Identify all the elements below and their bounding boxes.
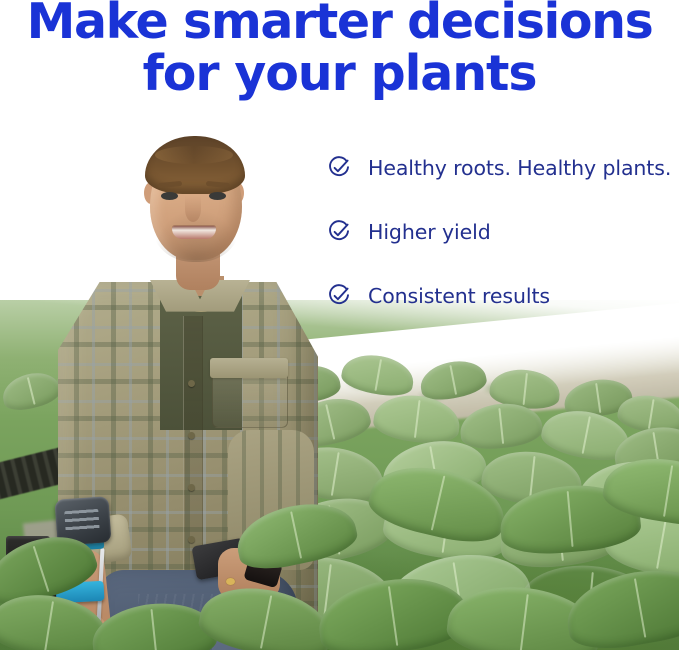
smile — [172, 226, 216, 239]
benefit-label: Healthy roots. Healthy plants. — [368, 156, 671, 180]
benefit-item: Consistent results — [327, 280, 677, 344]
circle-check-icon — [327, 220, 351, 244]
nose — [185, 196, 201, 222]
circle-check-icon — [327, 284, 351, 308]
circle-check-icon — [327, 156, 351, 180]
eye-right — [209, 192, 226, 200]
benefit-item: Higher yield — [327, 216, 677, 280]
shirt-button — [188, 484, 195, 491]
benefit-label: Higher yield — [368, 220, 491, 244]
benefit-label: Consistent results — [368, 284, 550, 308]
shirt-pocket-flap — [210, 358, 288, 378]
headline-line-2: for your plants — [0, 48, 679, 100]
shirt-button — [188, 432, 195, 439]
headline-line-1: Make smarter decisions — [0, 0, 679, 48]
eye-left — [161, 192, 178, 200]
benefits-list: Healthy roots. Healthy plants. Higher yi… — [327, 152, 677, 344]
hero-banner: Make smarter decisions for your plants H… — [0, 0, 679, 650]
page-title: Make smarter decisions for your plants — [0, 0, 679, 100]
ring — [226, 578, 235, 585]
benefit-item: Healthy roots. Healthy plants. — [327, 152, 677, 216]
shirt-button — [188, 536, 195, 543]
shirt-button — [188, 380, 195, 387]
